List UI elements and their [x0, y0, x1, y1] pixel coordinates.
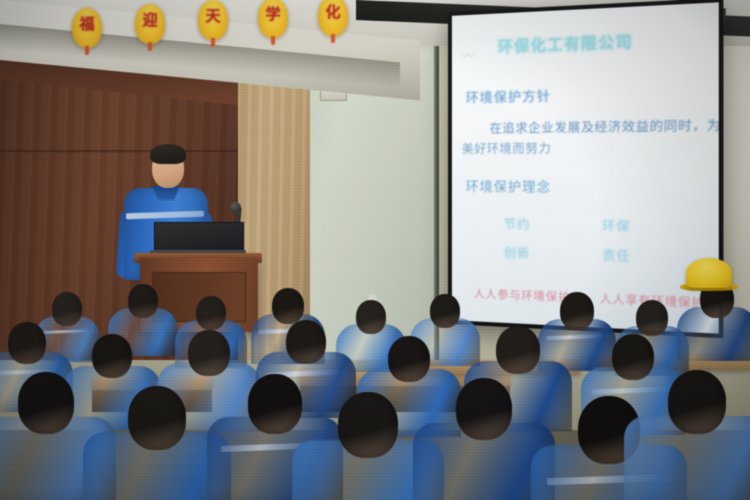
slide-value-2: 环保 — [602, 216, 686, 236]
presenter-hair — [150, 144, 186, 164]
slide-values-grid: 节约环保创新责任 — [504, 215, 687, 266]
decoration-tassel — [331, 34, 335, 43]
decoration-glyph: 化 — [318, 5, 348, 20]
decoration-glyph: 天 — [198, 9, 228, 24]
slide-value-1: 节约 — [504, 215, 583, 234]
microphone-icon — [230, 202, 241, 213]
audience-head — [272, 288, 304, 324]
audience-head — [668, 370, 726, 434]
hanging-lantern-5: 化 — [318, 0, 348, 36]
screen-surface: 〰 环保化工有限公司 环境保护方针 在追求企业发展及经济效益的同时，为保护 美好… — [452, 2, 719, 333]
meeting-room-photo: 福迎天学化 〰 环保化工有限公司 环境保护方针 在追求企业发展及经济效益的同时，… — [0, 0, 750, 500]
slide-body-line-2: 美好环境而努力 — [462, 138, 714, 157]
audience-head — [636, 300, 668, 336]
audience-head — [188, 330, 230, 376]
audience-head — [560, 292, 594, 330]
audience-head — [356, 300, 386, 334]
audience-head — [52, 292, 82, 326]
hanging-lantern-1: 福 — [72, 8, 102, 48]
decoration-glyph: 学 — [258, 7, 288, 22]
slide-heading-policy: 环境保护方针 — [466, 85, 551, 106]
company-logo-icon: 〰 — [462, 44, 496, 67]
audience-head — [388, 336, 430, 382]
slide-title: 环保化工有限公司 — [498, 27, 712, 58]
slide-footer-left: 人人参与环境保护 — [474, 285, 571, 305]
audience-head — [8, 322, 46, 364]
slide-heading-concept: 环境保护理念 — [466, 176, 551, 196]
audience-head — [338, 392, 398, 458]
audience-head — [92, 334, 132, 378]
decoration-tassel — [211, 38, 215, 47]
audience-head — [18, 372, 74, 434]
decoration-tassel — [85, 46, 89, 55]
decoration-tassel — [148, 42, 152, 51]
audience-head — [430, 294, 460, 328]
decoration-glyph: 迎 — [135, 13, 165, 28]
slide-body-line-1: 在追求企业发展及经济效益的同时，为保护 — [490, 116, 715, 137]
audience-head — [612, 334, 654, 380]
audience-head — [286, 320, 326, 364]
hanging-lantern-4: 学 — [258, 0, 288, 38]
audience-head — [196, 296, 226, 330]
yellow-hard-hat-icon — [686, 258, 732, 288]
hanging-lantern-3: 天 — [198, 0, 228, 40]
decoration-glyph: 福 — [72, 17, 102, 32]
audience-head — [496, 326, 540, 374]
panel-seam — [0, 150, 238, 152]
slide-value-4: 责任 — [602, 246, 686, 266]
decoration-tassel — [271, 36, 275, 45]
slide-content: 〰 环保化工有限公司 环境保护方针 在追求企业发展及经济效益的同时，为保护 美好… — [452, 2, 719, 333]
audience-head — [248, 374, 302, 434]
audience-head — [128, 386, 186, 450]
hanging-lantern-2: 迎 — [135, 4, 165, 44]
audience-head — [128, 284, 158, 318]
slide-value-3: 创新 — [504, 243, 583, 263]
audience-head — [456, 378, 512, 440]
water-bottle-cap — [369, 294, 376, 299]
